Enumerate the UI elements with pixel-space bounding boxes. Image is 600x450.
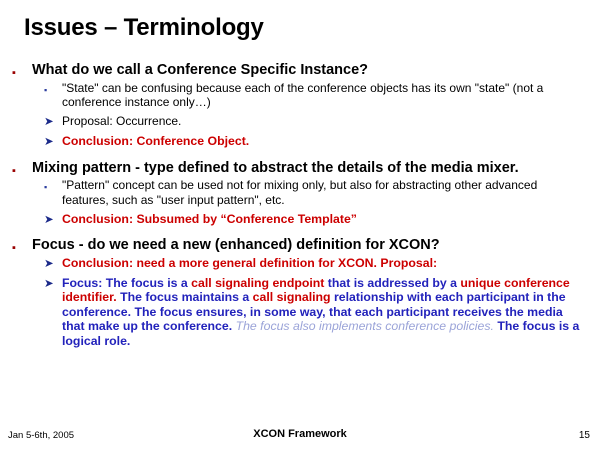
definition-run-grey: The focus also implements conference pol… bbox=[236, 319, 498, 333]
slide-body: ▪ What do we call a Conference Specific … bbox=[12, 62, 592, 349]
slide-canvas: Issues – Terminology ▪ What do we call a… bbox=[0, 0, 600, 450]
footer-title: XCON Framework bbox=[0, 428, 600, 440]
section-2-heading: Mixing pattern - type defined to abstrac… bbox=[32, 160, 592, 178]
definition-run-red: call signaling bbox=[253, 290, 331, 304]
list-item-label: "Pattern" concept can be used not for mi… bbox=[62, 178, 592, 207]
square-bullet-icon: ▪ bbox=[44, 81, 62, 95]
section-2-subitems: ▪ "Pattern" concept can be used not for … bbox=[12, 178, 592, 227]
arrow-right-icon: ➤ bbox=[44, 256, 62, 271]
section-1-heading: What do we call a Conference Specific In… bbox=[32, 62, 592, 80]
conclusion-label: Conclusion: Conference Object. bbox=[62, 134, 592, 149]
section-3-heading-row: ▪ Focus - do we need a new (enhanced) de… bbox=[12, 237, 592, 255]
square-bullet-icon: ▪ bbox=[12, 237, 32, 254]
arrow-right-icon: ➤ bbox=[44, 134, 62, 149]
arrow-right-icon: ➤ bbox=[44, 276, 62, 291]
section-1-heading-row: ▪ What do we call a Conference Specific … bbox=[12, 62, 592, 80]
section-2: ▪ Mixing pattern - type defined to abstr… bbox=[12, 160, 592, 228]
section-1-subitems: ▪ "State" can be confusing because each … bbox=[12, 81, 592, 149]
arrow-right-icon: ➤ bbox=[44, 114, 62, 129]
list-item: ▪ "State" can be confusing because each … bbox=[44, 81, 592, 110]
list-item: ➤ Conclusion: Subsumed by “Conference Te… bbox=[44, 212, 592, 227]
section-3: ▪ Focus - do we need a new (enhanced) de… bbox=[12, 237, 592, 348]
footer-page-number: 15 bbox=[579, 430, 590, 441]
section-3-heading: Focus - do we need a new (enhanced) defi… bbox=[32, 237, 592, 255]
conclusion-label: Conclusion: need a more general definiti… bbox=[62, 256, 592, 271]
definition-run-blue: that is addressed by a bbox=[324, 276, 460, 290]
square-bullet-icon: ▪ bbox=[12, 62, 32, 79]
square-bullet-icon: ▪ bbox=[44, 178, 62, 192]
section-1: ▪ What do we call a Conference Specific … bbox=[12, 62, 592, 149]
square-bullet-icon: ▪ bbox=[12, 160, 32, 177]
page-title: Issues – Terminology bbox=[24, 14, 264, 42]
definition-run-red: call signaling endpoint bbox=[191, 276, 324, 290]
focus-definition-row: ➤ Focus: The focus is a call signaling e… bbox=[44, 276, 592, 349]
section-2-heading-row: ▪ Mixing pattern - type defined to abstr… bbox=[12, 160, 592, 178]
focus-definition-text: Focus: The focus is a call signaling end… bbox=[62, 276, 592, 349]
definition-run-blue: The focus maintains a bbox=[117, 290, 253, 304]
conclusion-label: Conclusion: Subsumed by “Conference Temp… bbox=[62, 212, 592, 227]
list-item: ▪ "Pattern" concept can be used not for … bbox=[44, 178, 592, 207]
definition-run-blue: Focus: The focus is a bbox=[62, 276, 191, 290]
arrow-right-icon: ➤ bbox=[44, 212, 62, 227]
list-item: ➤ Proposal: Occurrence. bbox=[44, 114, 592, 129]
list-item: ➤ Conclusion: need a more general defini… bbox=[44, 256, 592, 271]
list-item-label: Proposal: Occurrence. bbox=[62, 114, 592, 129]
list-item: ➤ Conclusion: Conference Object. bbox=[44, 134, 592, 149]
list-item-label: "State" can be confusing because each of… bbox=[62, 81, 592, 110]
section-3-subitems: ➤ Conclusion: need a more general defini… bbox=[12, 256, 592, 349]
